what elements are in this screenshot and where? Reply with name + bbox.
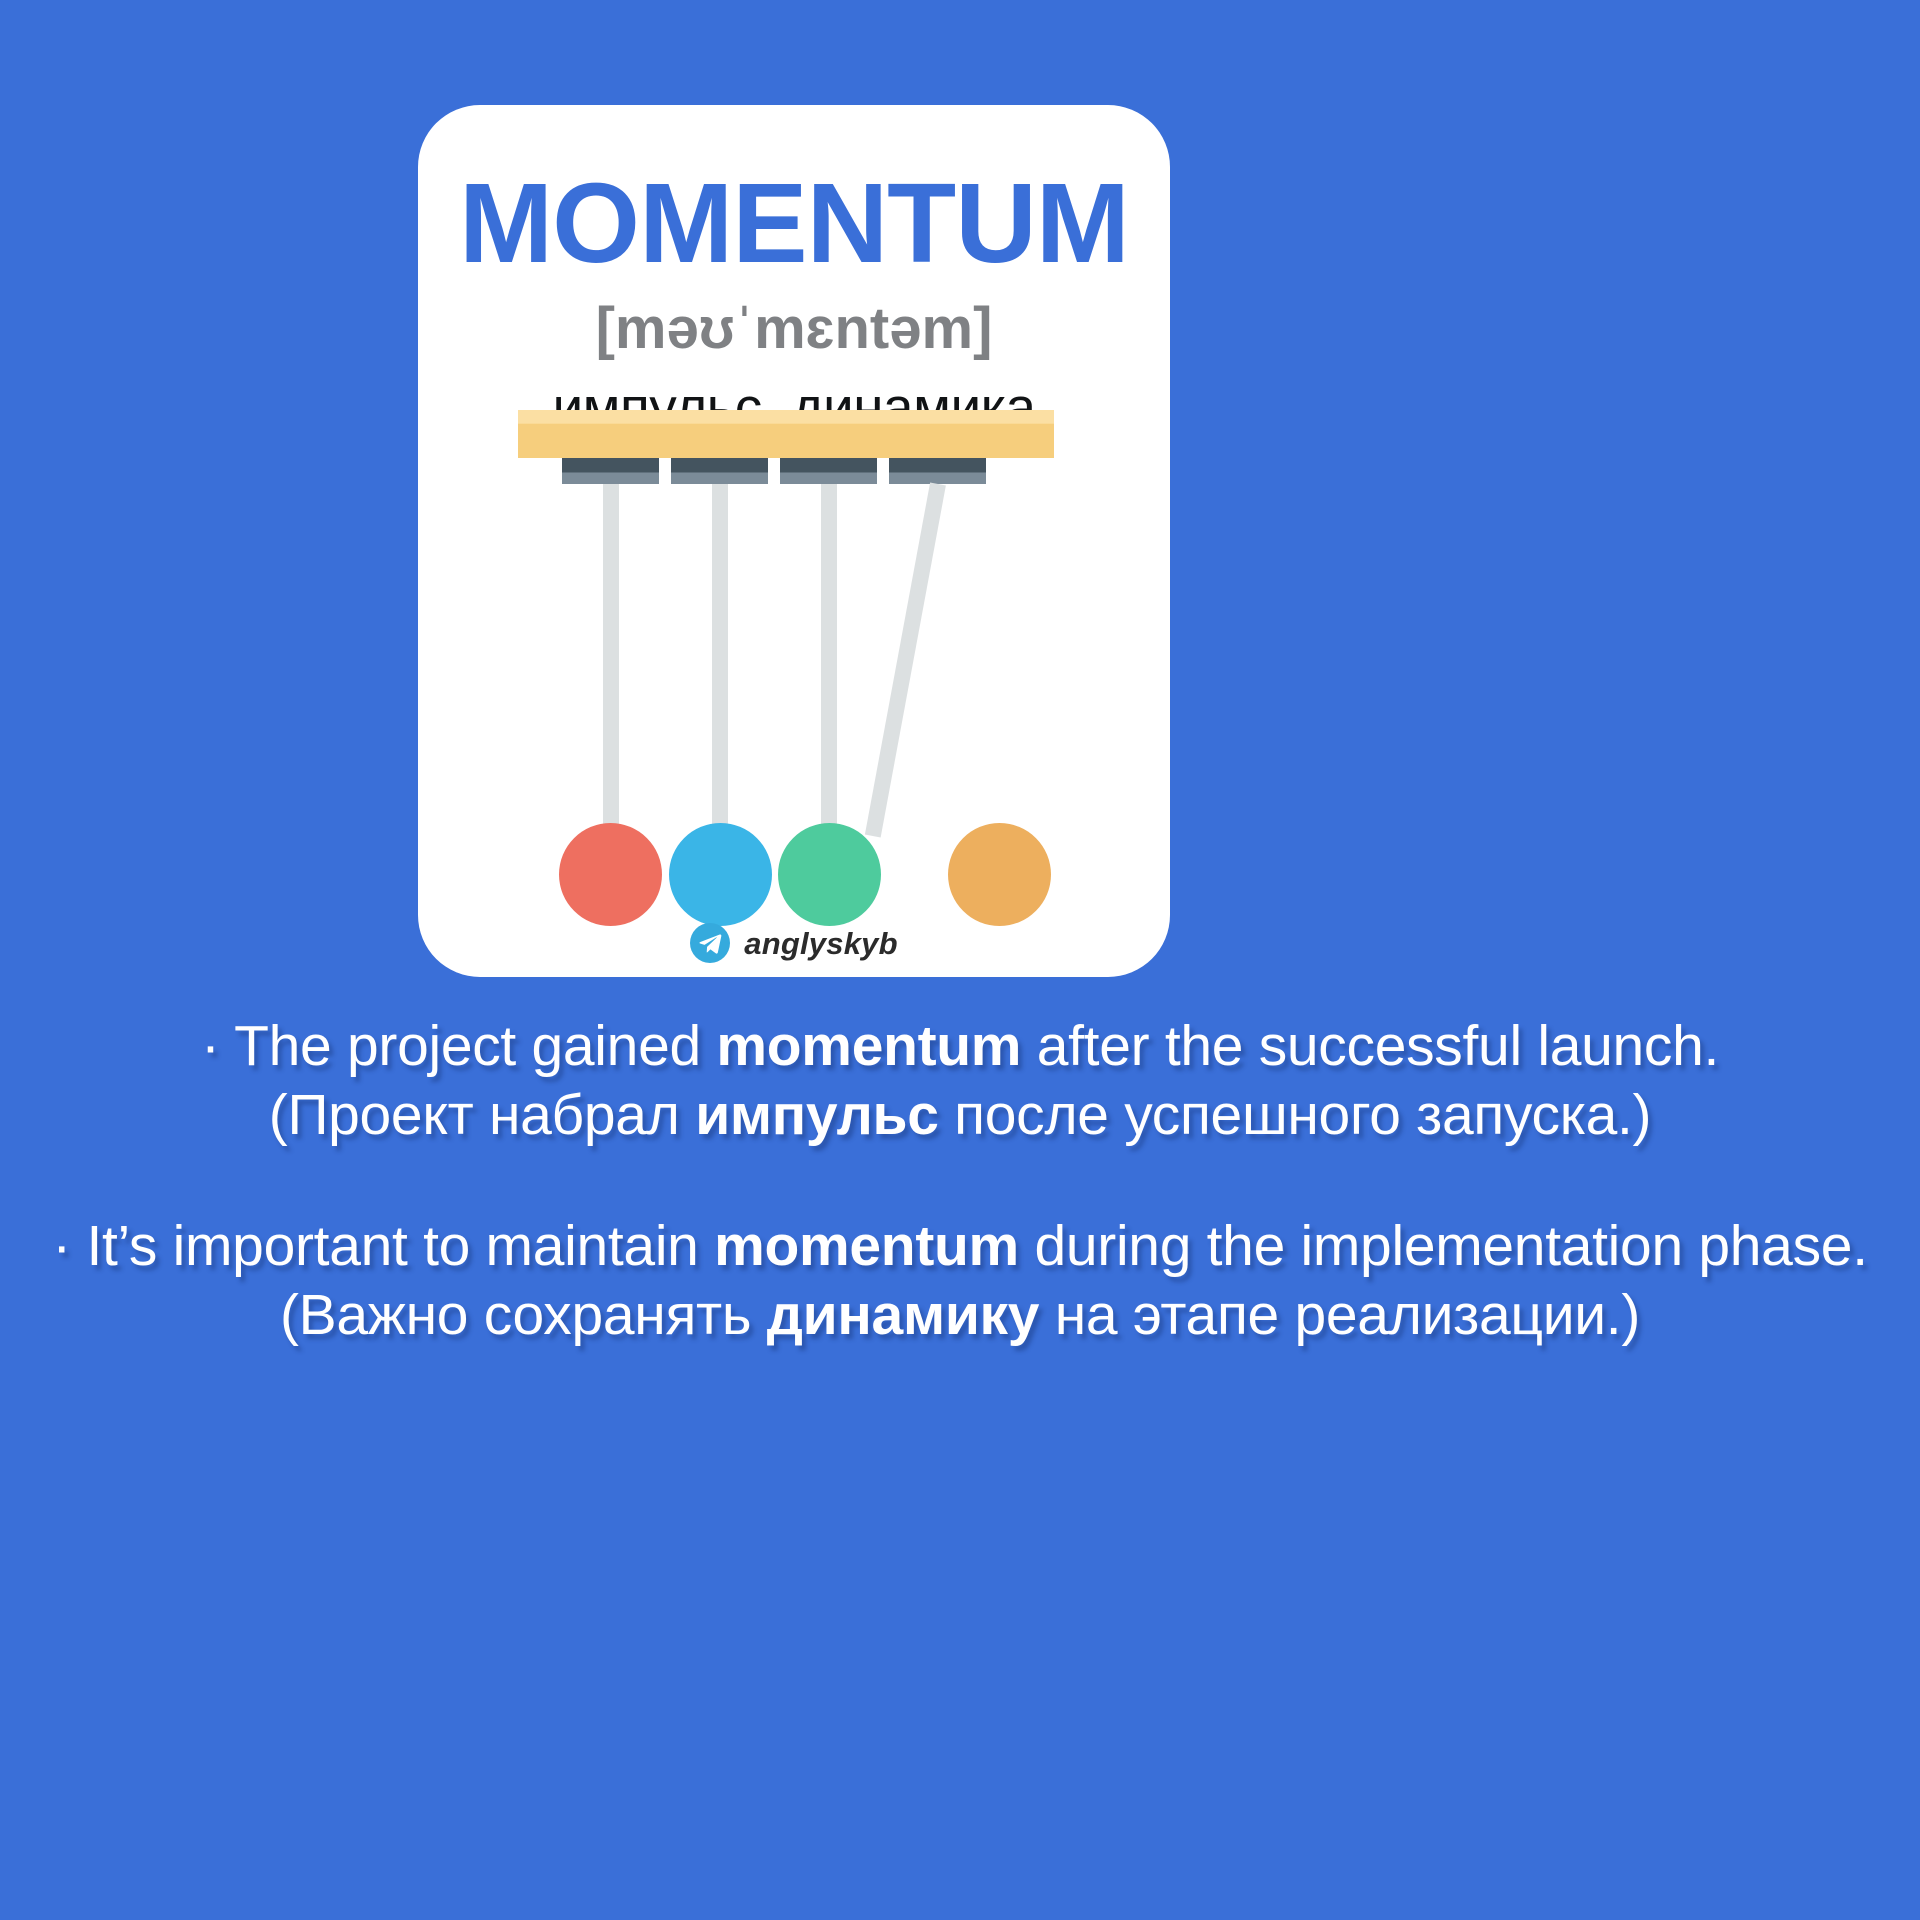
cradle-string-4 xyxy=(865,483,946,838)
cradle-string-2 xyxy=(712,484,728,839)
cradle-string-1 xyxy=(603,484,619,839)
telegram-icon xyxy=(690,923,730,963)
cradle-ball-orange xyxy=(948,823,1051,926)
example-sentences: · The project gained momentum after the … xyxy=(0,1012,1920,1350)
example-spacer xyxy=(0,1150,1920,1212)
cradle-clamp-3 xyxy=(780,458,877,484)
cradle-clamp-2 xyxy=(671,458,768,484)
example-block-2: · It’s important to maintain momentum du… xyxy=(0,1212,1920,1350)
cradle-clamp-4 xyxy=(889,458,986,484)
example-1-en: · The project gained momentum after the … xyxy=(40,1012,1880,1081)
cradle-clamp-1 xyxy=(562,458,659,484)
vocabulary-card: MOMENTUM [məʊˈmɛntəm] импульс, динамика … xyxy=(418,105,1170,977)
cradle-ball-green xyxy=(778,823,881,926)
cradle-string-3 xyxy=(821,484,837,839)
handle-username: anglyskyb xyxy=(744,928,897,959)
example-2-ru: (Важно сохранять динамику на этапе реали… xyxy=(40,1281,1880,1350)
newtons-cradle-illustration xyxy=(418,105,1170,977)
example-2-en: · It’s important to maintain momentum du… xyxy=(40,1212,1880,1281)
cradle-ball-blue xyxy=(669,823,772,926)
cradle-frame-bar xyxy=(518,410,1054,458)
channel-handle[interactable]: anglyskyb xyxy=(418,923,1170,963)
cradle-ball-red xyxy=(559,823,662,926)
example-1-ru: (Проект набрал импульс после успешного з… xyxy=(40,1081,1880,1150)
example-block-1: · The project gained momentum after the … xyxy=(0,1012,1920,1150)
